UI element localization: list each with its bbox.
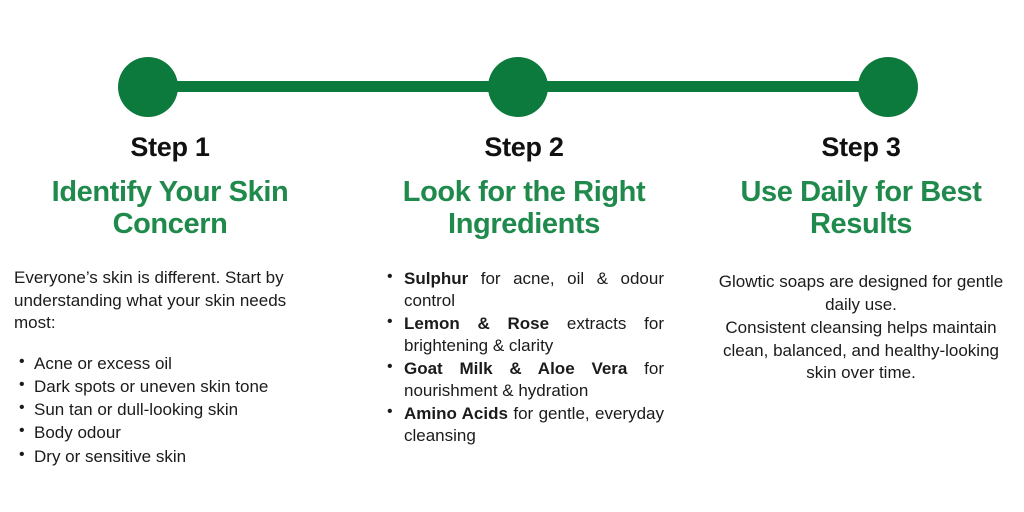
step-1-label: Step 1 <box>14 133 326 163</box>
list-item: Amino Acids for gentle, everyday cleansi… <box>384 403 664 447</box>
timeline-connector-1-2 <box>148 81 518 92</box>
list-item: Dark spots or uneven skin tone <box>14 375 326 398</box>
list-item: Body odour <box>14 421 326 444</box>
steps-container: Step 1 Identify Your Skin Concern Everyo… <box>0 133 1024 468</box>
step-1-title: Identify Your Skin Concern <box>14 176 326 242</box>
step-3-label: Step 3 <box>710 133 1012 163</box>
step-column-3: Step 3 Use Daily for Best Results Glowti… <box>684 133 1024 385</box>
step-2-title: Look for the Right Ingredients <box>384 176 664 242</box>
step-1-intro: Everyone’s skin is different. Start by u… <box>14 267 326 334</box>
list-item: Lemon & Rose extracts for brightening & … <box>384 313 664 357</box>
ingredient-name: Sulphur <box>404 269 468 288</box>
step-3-title: Use Daily for Best Results <box>710 176 1012 242</box>
ingredient-name: Amino Acids <box>404 404 508 423</box>
timeline <box>0 0 1024 140</box>
step-3-body: Glowtic soaps are designed for gentle da… <box>710 271 1012 385</box>
list-item: Acne or excess oil <box>14 352 326 375</box>
timeline-node-step-1 <box>118 57 178 117</box>
infographic-root: Step 1 Identify Your Skin Concern Everyo… <box>0 0 1024 512</box>
list-item: Goat Milk & Aloe Vera for nourishment & … <box>384 358 664 402</box>
step-column-1: Step 1 Identify Your Skin Concern Everyo… <box>0 133 340 468</box>
step-2-bullet-list: Sulphur for acne, oil & odour control Le… <box>384 268 664 446</box>
step-2-label: Step 2 <box>384 133 664 163</box>
timeline-node-step-2 <box>488 57 548 117</box>
ingredient-name: Goat Milk & Aloe Vera <box>404 359 627 378</box>
step-column-2: Step 2 Look for the Right Ingredients Su… <box>340 133 684 448</box>
timeline-connector-2-3 <box>518 81 888 92</box>
list-item: Dry or sensitive skin <box>14 445 326 468</box>
step-1-bullet-list: Acne or excess oil Dark spots or uneven … <box>14 352 326 468</box>
list-item: Sulphur for acne, oil & odour control <box>384 268 664 312</box>
list-item: Sun tan or dull-looking skin <box>14 398 326 421</box>
ingredient-name: Lemon & Rose <box>404 314 549 333</box>
timeline-node-step-3 <box>858 57 918 117</box>
